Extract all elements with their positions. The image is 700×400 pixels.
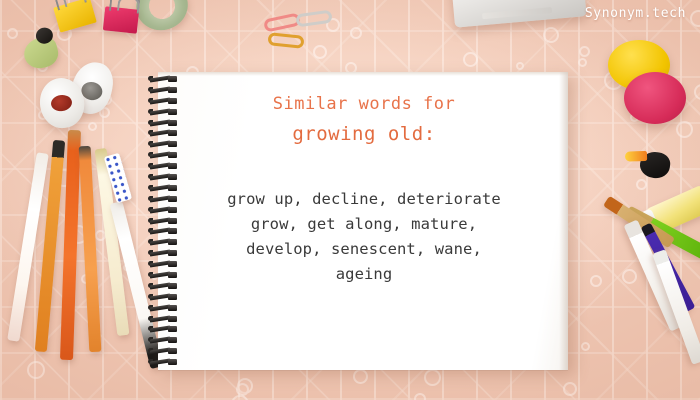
coil-head <box>168 174 177 180</box>
coil-head <box>168 294 177 300</box>
spiral-coil <box>148 185 180 191</box>
spiral-coil <box>148 337 180 343</box>
coil-head <box>168 239 177 245</box>
synonym-line: ageing <box>178 262 550 287</box>
coil-head <box>168 76 177 82</box>
coil-bar <box>150 326 170 333</box>
coil-bar <box>150 304 170 311</box>
spiral-coil <box>148 130 180 136</box>
coil-bar <box>150 86 170 93</box>
coil-head <box>168 261 177 267</box>
spiral-coil <box>148 272 180 278</box>
clip-arm <box>61 0 86 7</box>
spiral-coil <box>148 348 180 354</box>
coil-bar <box>150 282 170 289</box>
coil-bar <box>150 250 170 257</box>
coil-bar <box>150 119 170 126</box>
spiral-coil <box>148 250 180 256</box>
coil-head <box>168 196 177 202</box>
coil-bar <box>150 108 170 115</box>
toucan-beak <box>625 151 647 162</box>
spiral-coil <box>148 218 180 224</box>
coil-bar <box>150 184 170 191</box>
coil-head <box>168 185 177 191</box>
synonym-list: grow up, decline, deteriorategrow, get a… <box>178 187 550 287</box>
macaron-pink <box>624 72 686 124</box>
coil-bar <box>150 97 170 104</box>
synonym-card: Similar words for growing old: grow up, … <box>178 92 550 287</box>
coil-bar <box>150 152 170 159</box>
camera-grip <box>482 7 552 19</box>
synonym-line: grow, get along, mature, <box>178 212 550 237</box>
spiral-coil <box>148 196 180 202</box>
page-right-edge <box>559 72 568 370</box>
coil-head <box>168 163 177 169</box>
spiral-coil <box>148 359 180 365</box>
spiral-coil <box>148 141 180 147</box>
coil-head <box>168 228 177 234</box>
coil-bar <box>150 359 170 366</box>
coil-bar <box>150 337 170 344</box>
coil-bar <box>150 348 170 355</box>
coil-bar <box>150 293 170 300</box>
site-logo[interactable]: Synonym.tech <box>585 6 686 21</box>
coil-bar <box>150 195 170 202</box>
binder-clip-pink <box>103 6 139 33</box>
spiral-coil <box>148 305 180 311</box>
coil-head <box>168 109 177 115</box>
coil-head <box>168 130 177 136</box>
card-term: growing old: <box>178 120 550 149</box>
eraser-center <box>50 94 73 113</box>
coil-bar <box>150 228 170 235</box>
spiral-coil <box>148 283 180 289</box>
coil-head <box>168 141 177 147</box>
spiral-coil <box>148 239 180 245</box>
page-top-edge <box>158 72 568 76</box>
spiral-coil <box>148 261 180 267</box>
spiral-binding <box>148 74 182 368</box>
spiral-coil <box>148 207 180 213</box>
spiral-coil <box>148 98 180 104</box>
spiral-coil <box>148 120 180 126</box>
coil-head <box>168 152 177 158</box>
coil-head <box>168 283 177 289</box>
spiral-coil <box>148 87 180 93</box>
coil-bar <box>150 261 170 268</box>
spiral-coil <box>148 294 180 300</box>
spiral-coil <box>148 174 180 180</box>
spiral-coil <box>148 163 180 169</box>
coil-head <box>168 359 177 365</box>
spiral-coil <box>148 152 180 158</box>
spiral-coil <box>148 76 180 82</box>
coil-head <box>168 218 177 224</box>
coil-bar <box>150 173 170 180</box>
coil-head <box>168 272 177 278</box>
card-title: Similar words for <box>178 92 550 118</box>
coil-head <box>168 98 177 104</box>
coil-bar <box>150 130 170 137</box>
coil-head <box>168 250 177 256</box>
coil-head <box>168 87 177 93</box>
synonym-line: develop, senescent, wane, <box>178 237 550 262</box>
coil-head <box>168 120 177 126</box>
clip-arm <box>117 0 140 13</box>
coil-head <box>168 316 177 322</box>
spiral-coil <box>148 228 180 234</box>
coil-bar <box>150 75 170 82</box>
coil-bar <box>150 163 170 170</box>
spiral-coil <box>148 326 180 332</box>
coil-head <box>168 326 177 332</box>
coil-bar <box>150 217 170 224</box>
coil-head <box>168 207 177 213</box>
coil-head <box>168 305 177 311</box>
coil-head <box>168 348 177 354</box>
coil-bar <box>150 271 170 278</box>
coil-head <box>168 337 177 343</box>
spiral-coil <box>148 109 180 115</box>
synonym-line: grow up, decline, deteriorate <box>178 187 550 212</box>
spiral-coil <box>148 316 180 322</box>
coil-bar <box>150 315 170 322</box>
coil-bar <box>150 141 170 148</box>
coil-bar <box>150 206 170 213</box>
coil-bar <box>150 239 170 246</box>
